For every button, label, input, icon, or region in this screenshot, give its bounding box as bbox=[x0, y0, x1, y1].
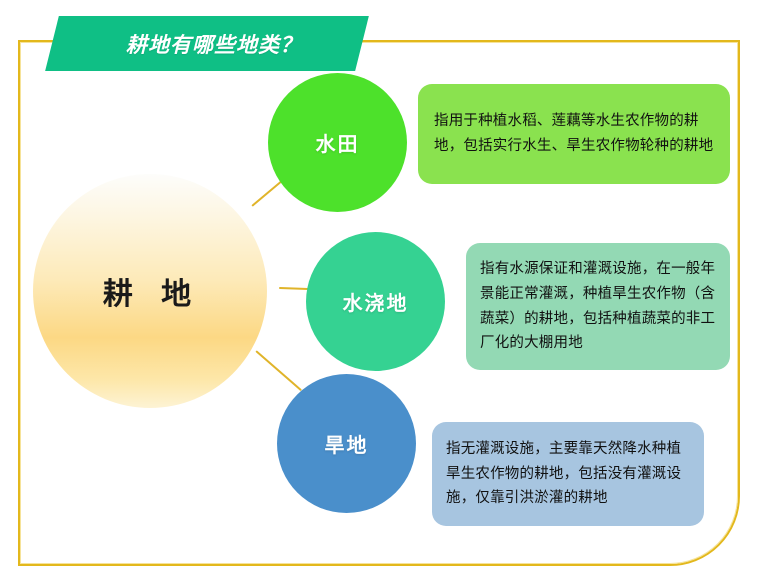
callout-paddy: 指用于种植水稻、莲藕等水生农作物的耕地，包括实行水生、旱生农作物轮种的耕地 bbox=[418, 84, 730, 184]
hub-label: 耕 地 bbox=[33, 174, 267, 408]
node-circle-dry[interactable]: 旱地 bbox=[277, 374, 416, 513]
node-label-irrigated: 水浇地 bbox=[343, 287, 409, 316]
callout-dry: 指无灌溉设施，主要靠天然降水种植旱生农作物的耕地，包括没有灌溉设施，仅靠引洪淤灌… bbox=[432, 422, 704, 526]
node-circle-irrigated[interactable]: 水浇地 bbox=[306, 232, 445, 371]
page-title: 耕地有哪些地类？ bbox=[52, 16, 362, 71]
callout-text-dry: 指无灌溉设施，主要靠天然降水种植旱生农作物的耕地，包括没有灌溉设施，仅靠引洪淤灌… bbox=[446, 437, 690, 512]
callout-irrigated: 指有水源保证和灌溉设施，在一般年景能正常灌溉，种植旱生农作物（含蔬菜）的耕地，包… bbox=[466, 243, 730, 370]
node-circle-paddy[interactable]: 水田 bbox=[268, 73, 407, 212]
node-label-paddy: 水田 bbox=[316, 128, 360, 157]
callout-text-paddy: 指用于种植水稻、莲藕等水生农作物的耕地，包括实行水生、旱生农作物轮种的耕地 bbox=[434, 109, 714, 159]
node-label-dry: 旱地 bbox=[325, 429, 369, 458]
callout-text-irrigated: 指有水源保证和灌溉设施，在一般年景能正常灌溉，种植旱生农作物（含蔬菜）的耕地，包… bbox=[480, 257, 716, 357]
slide-canvas: 耕地有哪些地类？ 耕 地 水田 指用于种植水稻、莲藕等水生农作物的耕地，包括实行… bbox=[0, 0, 757, 582]
